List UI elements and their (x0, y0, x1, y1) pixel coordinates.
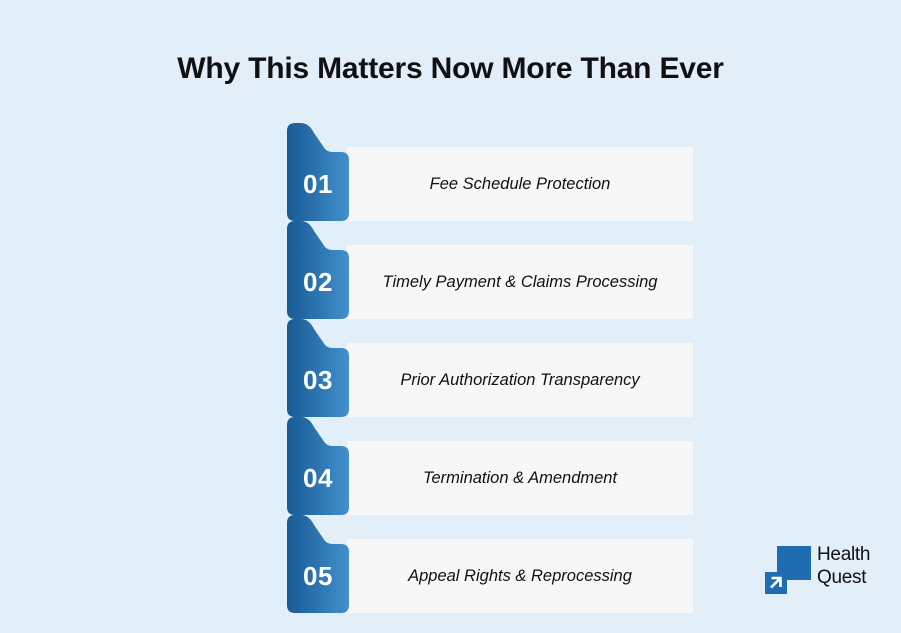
list-item: Appeal Rights & Reprocessing 05 (287, 515, 693, 589)
list-item-number: 05 (287, 539, 349, 613)
logo-line-2: Quest (817, 566, 870, 589)
list-item-label: Termination & Amendment (347, 441, 693, 515)
list-item-number: 01 (287, 147, 349, 221)
list-item: Timely Payment & Claims Processing 02 (287, 221, 693, 295)
list-item-badge: 02 (287, 221, 349, 319)
numbered-items-list: Fee Schedule Protection 01 Timely Paymen… (287, 123, 693, 589)
slide-canvas: Why This Matters Now More Than Ever Fee … (0, 0, 901, 633)
list-item-number: 04 (287, 441, 349, 515)
list-item-label: Fee Schedule Protection (347, 147, 693, 221)
list-item: Fee Schedule Protection 01 (287, 123, 693, 197)
logo-wordmark: Health Quest (817, 543, 870, 589)
list-item-badge: 01 (287, 123, 349, 221)
list-item: Prior Authorization Transparency 03 (287, 319, 693, 393)
list-item-badge: 03 (287, 319, 349, 417)
list-item-label: Prior Authorization Transparency (347, 343, 693, 417)
list-item-label: Appeal Rights & Reprocessing (347, 539, 693, 613)
page-title: Why This Matters Now More Than Ever (0, 52, 901, 86)
list-item-number: 02 (287, 245, 349, 319)
logo-mark-icon (765, 546, 811, 594)
list-item-badge: 04 (287, 417, 349, 515)
logo-line-1: Health (817, 543, 870, 566)
list-item-badge: 05 (287, 515, 349, 613)
brand-logo: Health Quest (765, 543, 890, 599)
list-item-number: 03 (287, 343, 349, 417)
list-item-label: Timely Payment & Claims Processing (347, 245, 693, 319)
list-item: Termination & Amendment 04 (287, 417, 693, 491)
